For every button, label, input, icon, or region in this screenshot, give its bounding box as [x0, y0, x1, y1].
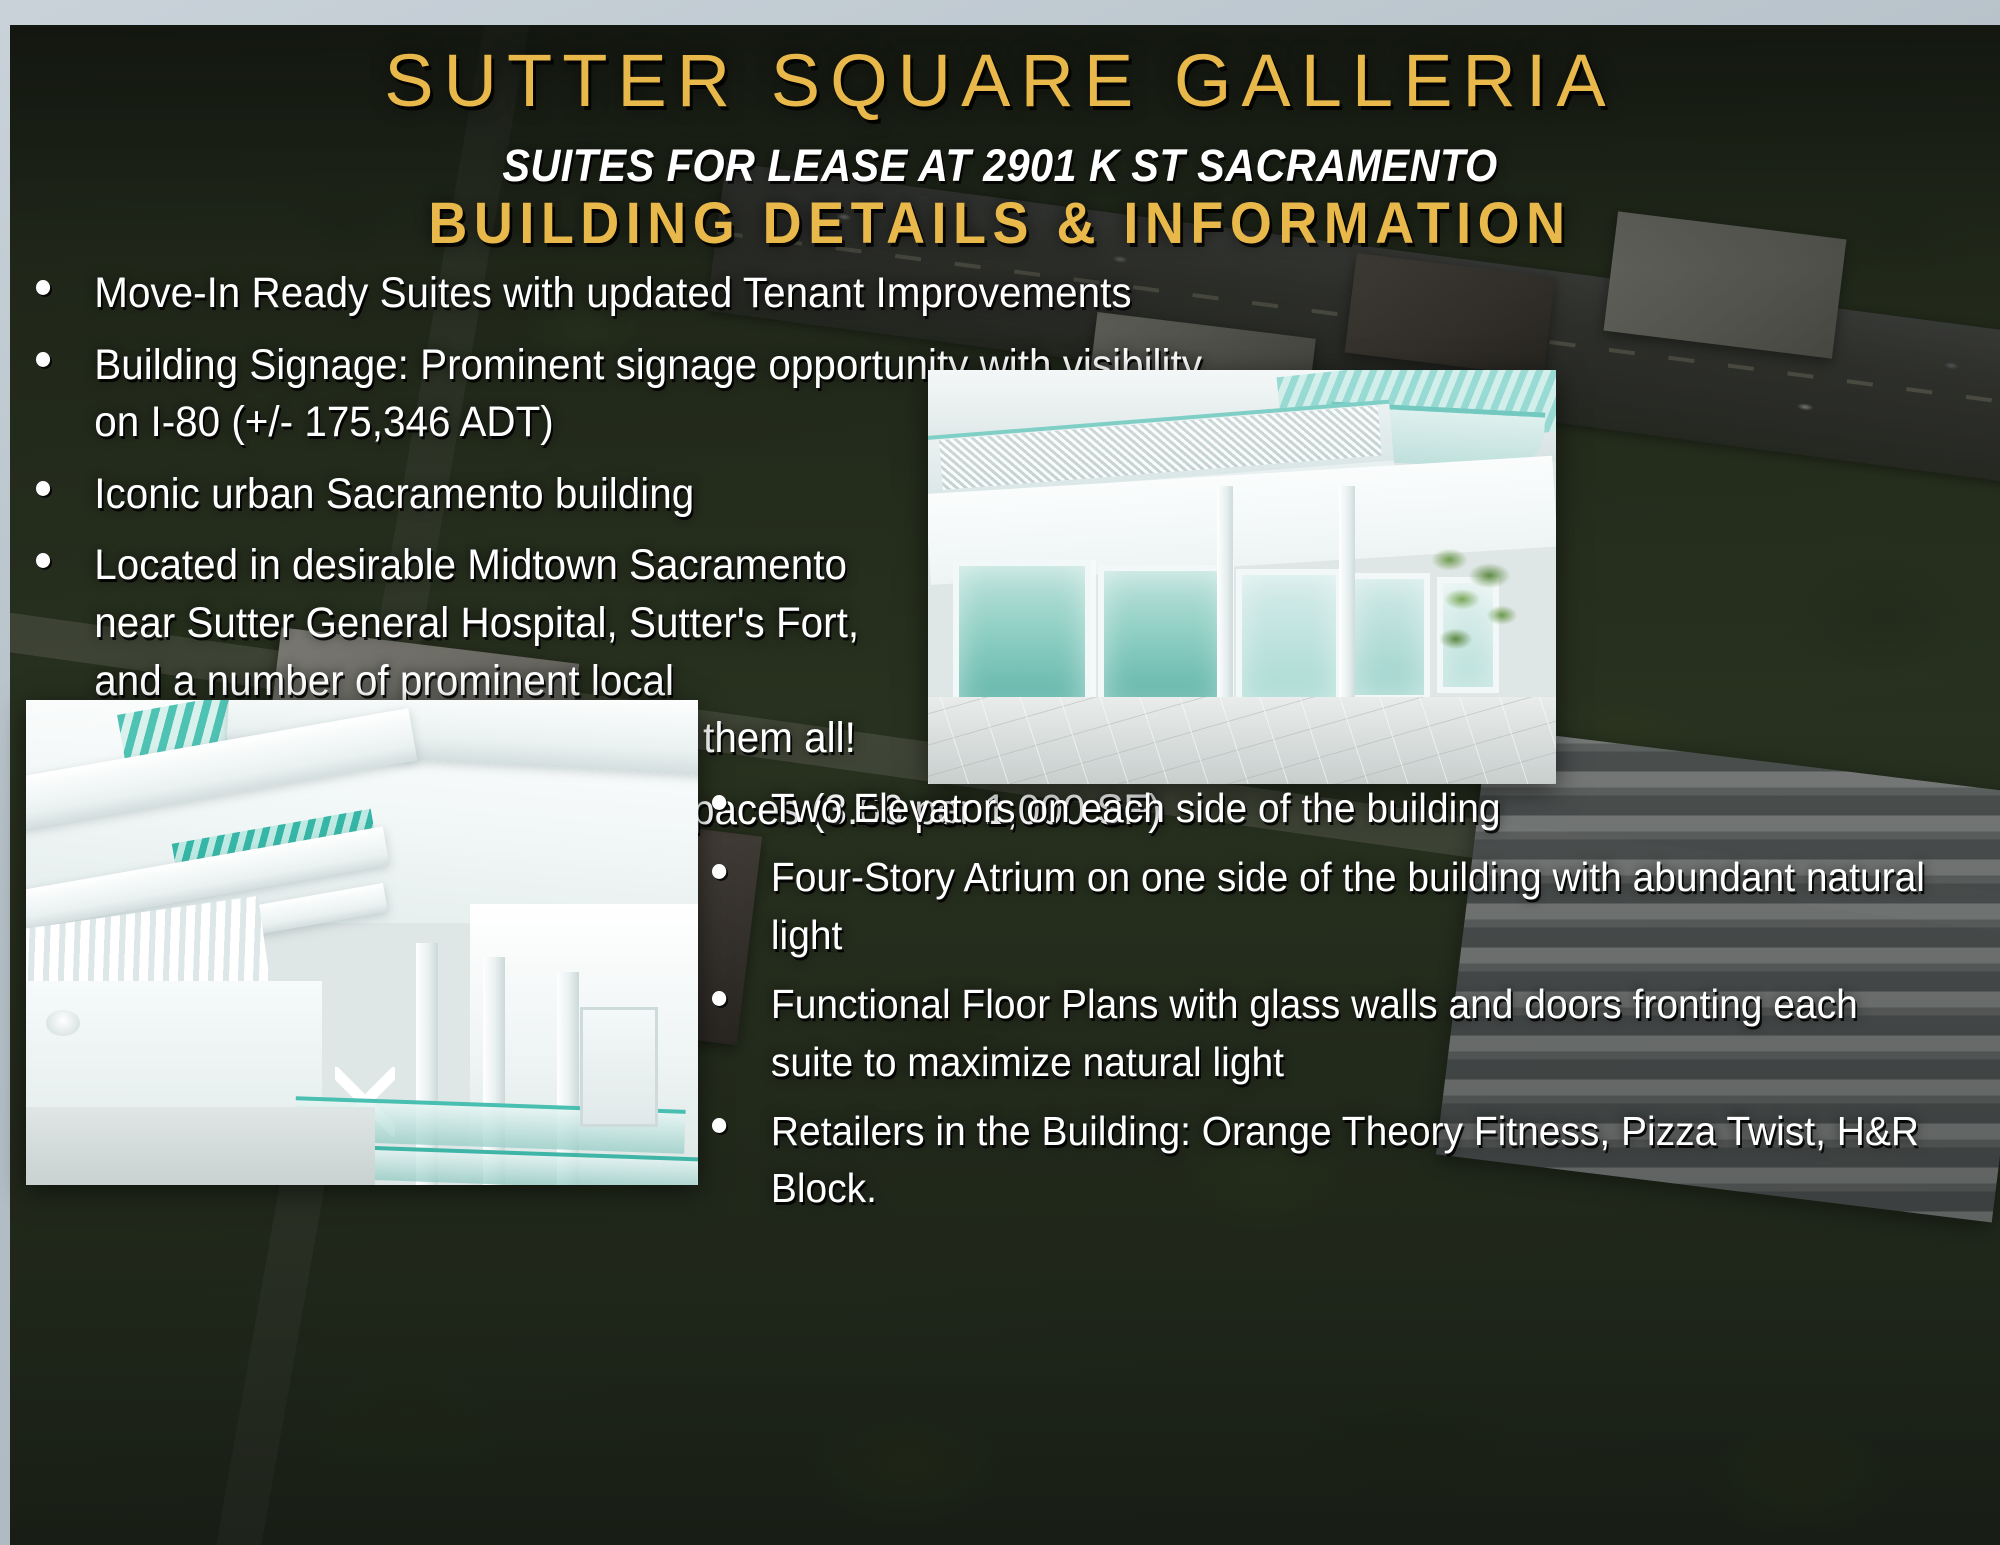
list-item-label: Functional Floor Plans with glass walls … — [771, 976, 1928, 1091]
page-subtitle: SUITES FOR LEASE AT 2901 K ST SACRAMENTO — [80, 140, 1920, 192]
list-item: Two Elevators on each side of the buildi… — [712, 780, 1928, 837]
list-item: Move-In Ready Suites with updated Tenant… — [36, 265, 1216, 323]
bullet-dot-icon — [712, 991, 726, 1006]
bullet-dot-icon — [36, 553, 50, 568]
atrium-corridor-skylight-photo — [26, 700, 698, 1185]
list-item: Functional Floor Plans with glass walls … — [712, 976, 1928, 1091]
bullet-dot-icon — [712, 1118, 726, 1133]
list-item-label: Move-In Ready Suites with updated Tenant… — [94, 265, 1215, 323]
bullet-dot-icon — [712, 864, 726, 879]
list-item: Four-Story Atrium on one side of the bui… — [712, 849, 1928, 964]
list-item-label: Retailers in the Building: Orange Theory… — [771, 1103, 1928, 1218]
section-heading: BUILDING DETAILS & INFORMATION — [70, 190, 1930, 257]
glass-mullion — [1091, 560, 1096, 717]
glass-storefront-bay — [953, 560, 1091, 717]
bullet-dot-icon — [36, 481, 50, 496]
bullet-dot-icon — [36, 352, 50, 367]
list-item-label: Four-Story Atrium on one side of the bui… — [771, 849, 1928, 964]
list-item: Retailers in the Building: Orange Theory… — [712, 1103, 1928, 1218]
flyer-canvas: SUTTER SQUARE GALLERIA SUITES FOR LEASE … — [0, 0, 2000, 1545]
flyer-content: SUTTER SQUARE GALLERIA SUITES FOR LEASE … — [0, 0, 2000, 1545]
structural-column — [1217, 486, 1233, 718]
page-title: SUTTER SQUARE GALLERIA — [0, 38, 2000, 123]
building-details-list-right: Two Elevators on each side of the buildi… — [712, 780, 1992, 1230]
atrium-glass-storefronts-photo — [928, 370, 1556, 784]
glass-storefront-bay — [1098, 565, 1230, 714]
bullet-dot-icon — [712, 795, 726, 810]
bullet-dot-icon — [36, 280, 50, 295]
suite-door — [580, 1007, 658, 1127]
glass-storefront-bay — [1236, 569, 1343, 710]
tile-floor — [928, 697, 1556, 784]
list-item-label: Two Elevators on each side of the buildi… — [771, 780, 1928, 837]
corridor-floor — [26, 1107, 375, 1185]
structural-column — [1339, 486, 1355, 718]
